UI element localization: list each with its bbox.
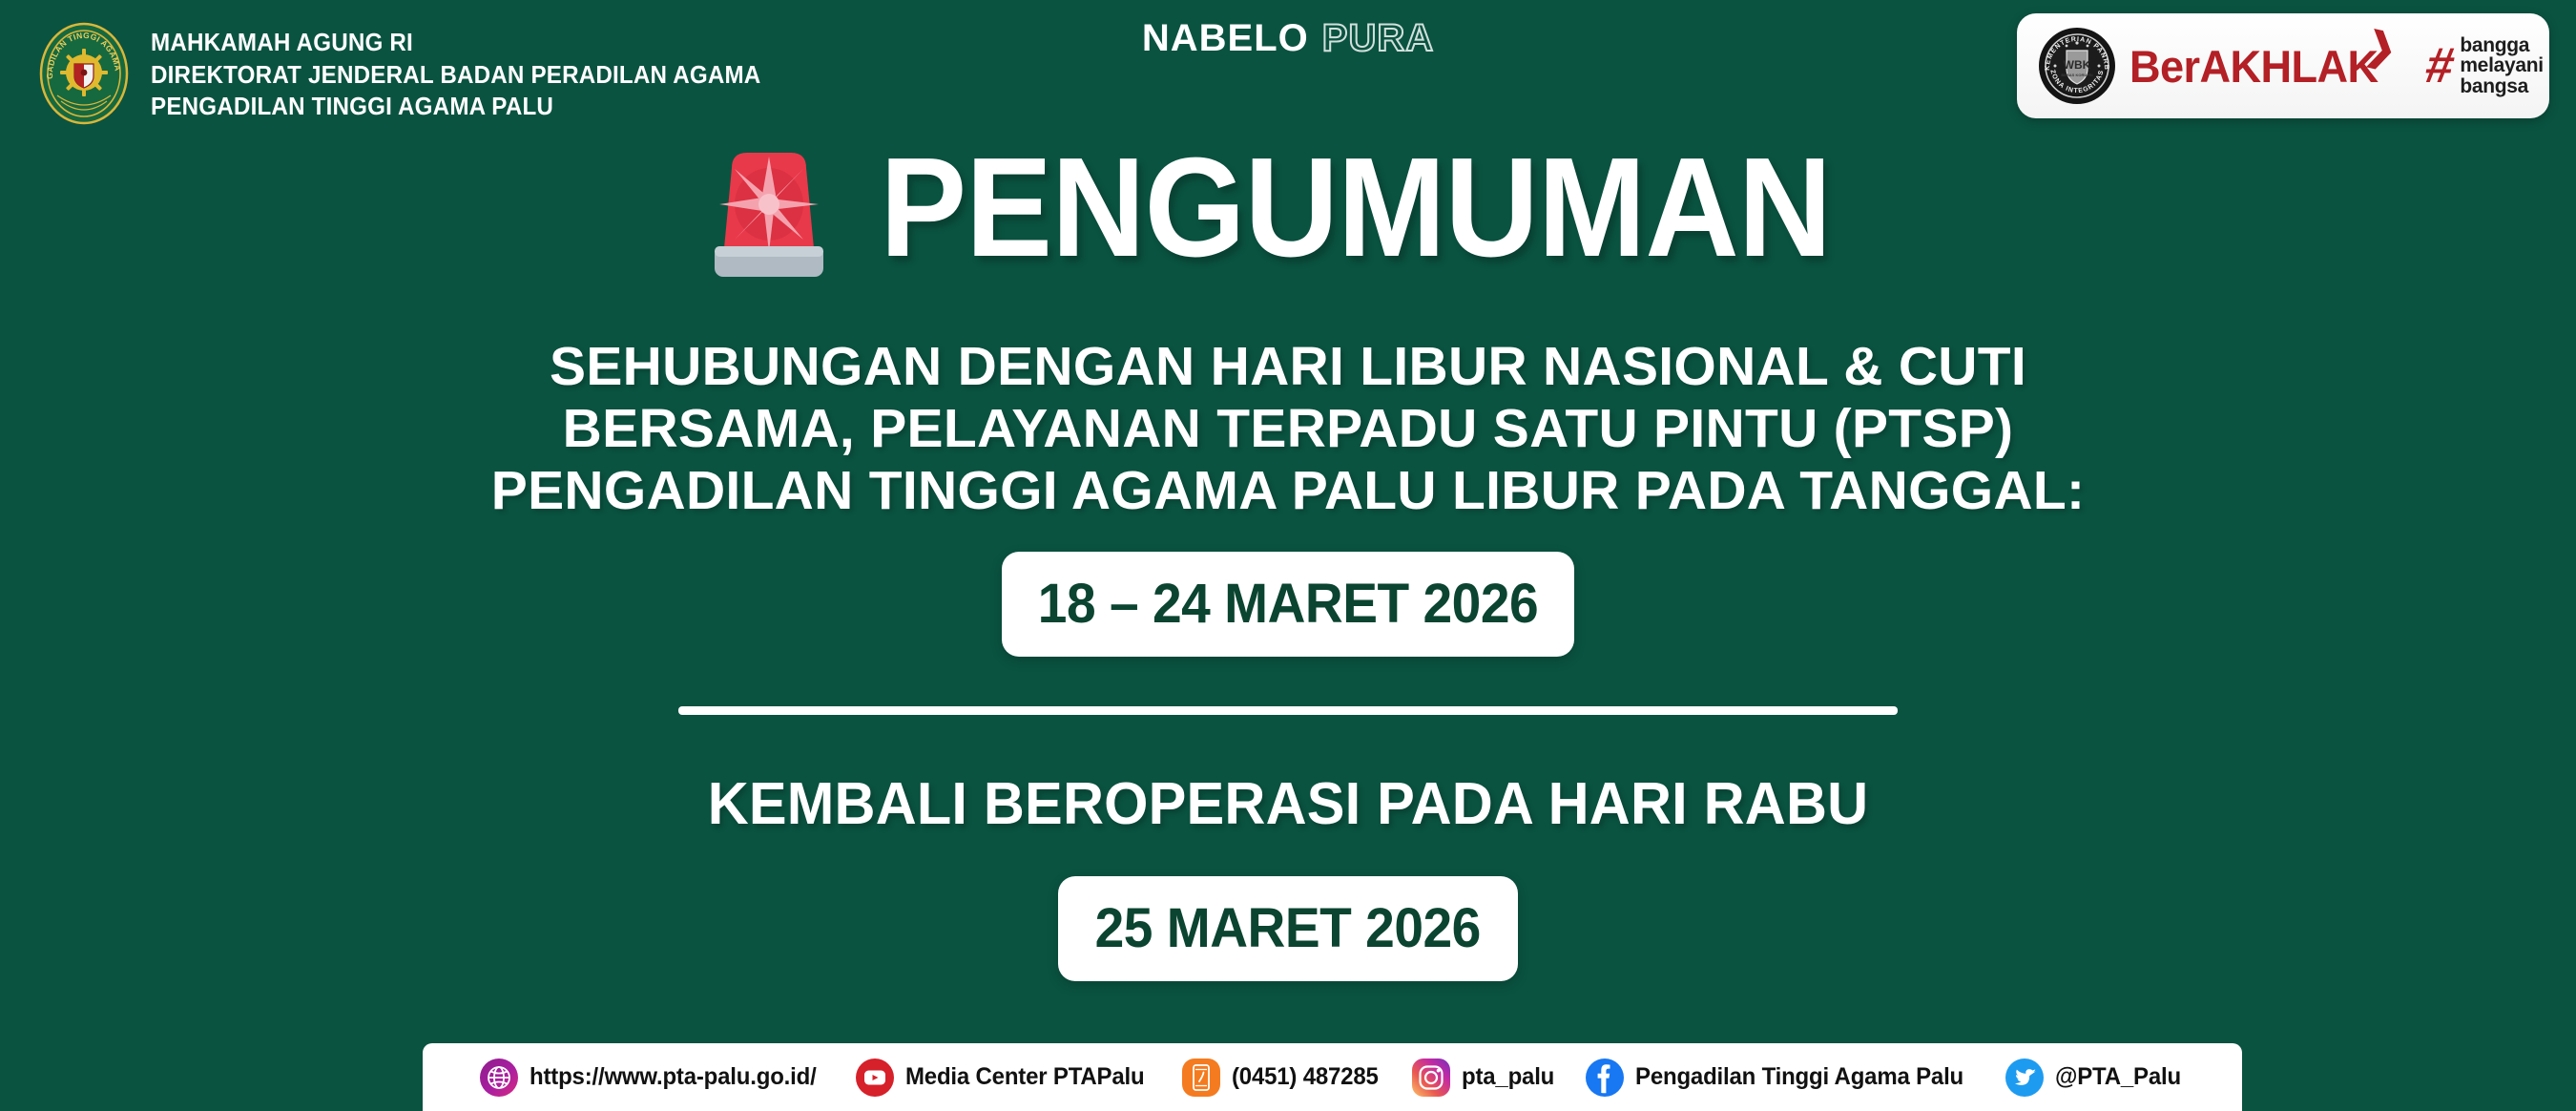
footer-label-instagram: pta_palu	[1462, 1063, 1554, 1091]
rotating-siren-light-icon	[703, 139, 835, 284]
youtube-icon	[855, 1058, 895, 1098]
body-line-3: PENGADILAN TINGGI AGAMA PALU LIBUR PADA …	[0, 460, 2576, 522]
institution-name-block: MAHKAMAH AGUNG RI DIREKTORAT JENDERAL BA…	[151, 26, 807, 121]
globe-website-icon	[479, 1058, 519, 1098]
facebook-icon	[1585, 1058, 1625, 1098]
institution-line-2: DIREKTORAT JENDERAL BADAN PERADILAN AGAM…	[151, 60, 760, 90]
hashtag-icon: #	[2422, 41, 2459, 91]
institution-header: PENGADILAN TINGGI AGAMA PALU	[38, 21, 807, 126]
footer-label-phone: (0451) 487285	[1232, 1063, 1379, 1091]
tagline-line-1: bangga	[2460, 35, 2544, 55]
svg-text:BEBAS KORUPSI: BEBAS KORUPSI	[2061, 73, 2092, 77]
berakhlak-text: BerAKHLAK	[2129, 41, 2379, 92]
bangga-melayani-bangsa-lockup: # bangga melayani bangsa	[2426, 35, 2543, 96]
svg-text:WBK: WBK	[2064, 58, 2091, 72]
footer-item-website[interactable]: https://www.pta-palu.go.id/	[466, 1058, 841, 1098]
announcement-poster: PENGADILAN TINGGI AGAMA PALU	[0, 0, 2576, 1111]
tagline-line-3: bangsa	[2460, 76, 2544, 96]
berakhlak-wordmark: BerAKHLAK ❯	[2129, 44, 2379, 89]
closed-dates-text: 18 – 24 MARET 2026	[1038, 576, 1538, 632]
body-line-2: BERSAMA, PELAYANAN TERPADU SATU PINTU (P…	[0, 398, 2576, 460]
footer-item-phone[interactable]: (0451) 487285	[1168, 1058, 1398, 1098]
footer-item-youtube[interactable]: Media Center PTAPalu	[841, 1058, 1168, 1098]
announcement-body: SEHUBUNGAN DENGAN HARI LIBUR NASIONAL & …	[0, 336, 2576, 522]
institution-line-3: PENGADILAN TINGGI AGAMA PALU	[151, 92, 760, 121]
wbk-zona-integritas-seal-icon: KEMENTERIAN PANRB ZONA INTEGRITAS WBK BE…	[2038, 27, 2116, 105]
footer-label-twitter: @PTA_Palu	[2055, 1063, 2181, 1091]
footer-label-youtube: Media Center PTAPalu	[905, 1063, 1144, 1091]
body-line-1: SEHUBUNGAN DENGAN HARI LIBUR NASIONAL & …	[0, 336, 2576, 398]
footer-item-facebook[interactable]: Pengadilan Tinggi Agama Palu	[1571, 1058, 1990, 1098]
phone-mobile-icon	[1181, 1058, 1221, 1098]
reopen-headline: KEMBALI BEROPERASI PADA HARI RABU	[52, 775, 2524, 834]
pta-palu-court-seal-icon: PENGADILAN TINGGI AGAMA PALU	[38, 21, 130, 126]
closed-dates-badge: 18 – 24 MARET 2026	[1002, 552, 1574, 657]
watermark-outline-word: PURA	[1322, 17, 1434, 59]
watermark-solid-word: NABELO	[1142, 17, 1309, 59]
section-divider	[678, 706, 1898, 715]
chevron-right-icon: ❯	[2362, 26, 2399, 70]
footer-item-twitter[interactable]: @PTA_Palu	[1991, 1058, 2199, 1098]
footer-label-facebook: Pengadilan Tinggi Agama Palu	[1635, 1063, 1963, 1091]
announcement-title-row: PENGUMUMAN	[0, 132, 2576, 284]
institution-line-1: MAHKAMAH AGUNG RI	[151, 28, 760, 57]
instagram-icon	[1411, 1058, 1451, 1098]
page-title: PENGUMUMAN	[881, 137, 1832, 279]
footer-label-website: https://www.pta-palu.go.id/	[530, 1063, 817, 1091]
twitter-icon	[2005, 1058, 2045, 1098]
reopen-date-badge: 25 MARET 2026	[1058, 876, 1518, 981]
footer-item-instagram[interactable]: pta_palu	[1398, 1058, 1571, 1098]
contact-footer-bar: https://www.pta-palu.go.id/ Media Center…	[423, 1043, 2242, 1111]
tagline-line-2: melayani	[2460, 55, 2544, 75]
berakhlak-badge: KEMENTERIAN PANRB ZONA INTEGRITAS WBK BE…	[2017, 13, 2549, 118]
reopen-date-text: 25 MARET 2026	[1095, 901, 1481, 956]
